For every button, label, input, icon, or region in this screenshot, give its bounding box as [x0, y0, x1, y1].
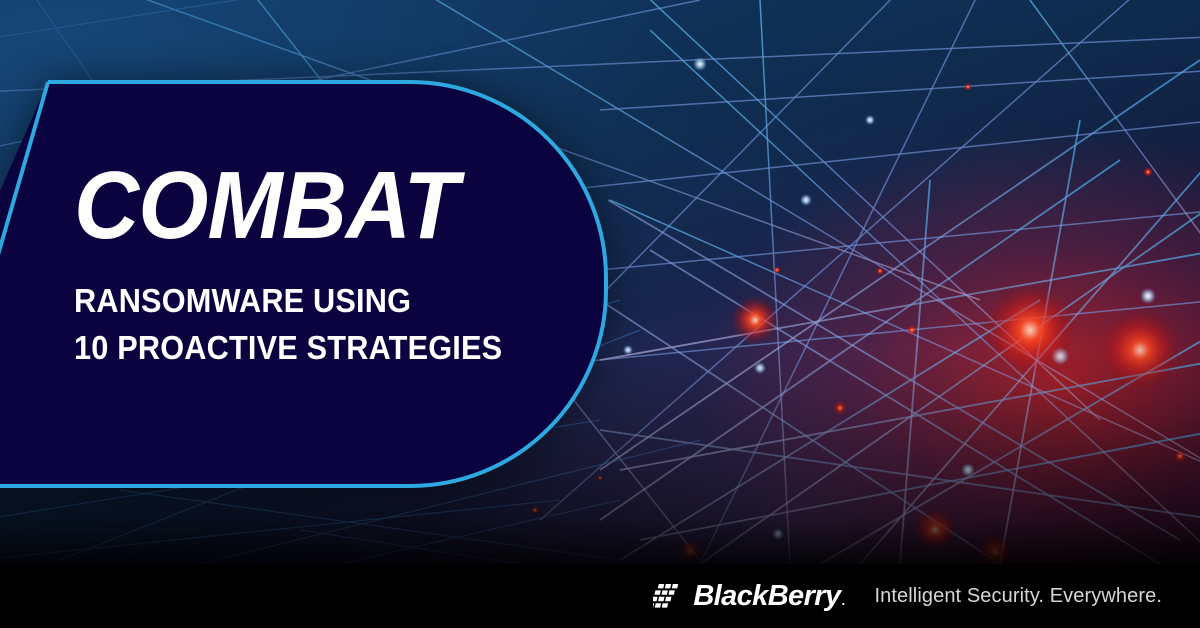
brand-wordmark-text: BlackBerry [693, 580, 840, 612]
brand-lockup: BlackBerry. Intelligent Security. Everyw… [653, 582, 1162, 611]
footer-brand-bar: BlackBerry. Intelligent Security. Everyw… [0, 564, 1200, 628]
marketing-banner: COMBAT RANSOMWARE USING 10 PROACTIVE STR… [0, 0, 1200, 628]
blackberry-logo: BlackBerry. [653, 582, 844, 611]
page-subtitle-line-1: RANSOMWARE USING [74, 278, 539, 325]
brand-tagline: Intelligent Security. Everywhere. [875, 586, 1163, 606]
page-subtitle-line-2: 10 PROACTIVE STRATEGIES [74, 325, 539, 372]
brand-wordmark: BlackBerry. [693, 582, 844, 611]
blackberry-dot-grid-icon [653, 583, 686, 609]
brand-registered-mark: . [841, 593, 844, 608]
page-title: COMBAT [74, 160, 544, 252]
page-subtitle: RANSOMWARE USING 10 PROACTIVE STRATEGIES [74, 278, 539, 372]
headline-copy-block: COMBAT RANSOMWARE USING 10 PROACTIVE STR… [74, 160, 574, 372]
